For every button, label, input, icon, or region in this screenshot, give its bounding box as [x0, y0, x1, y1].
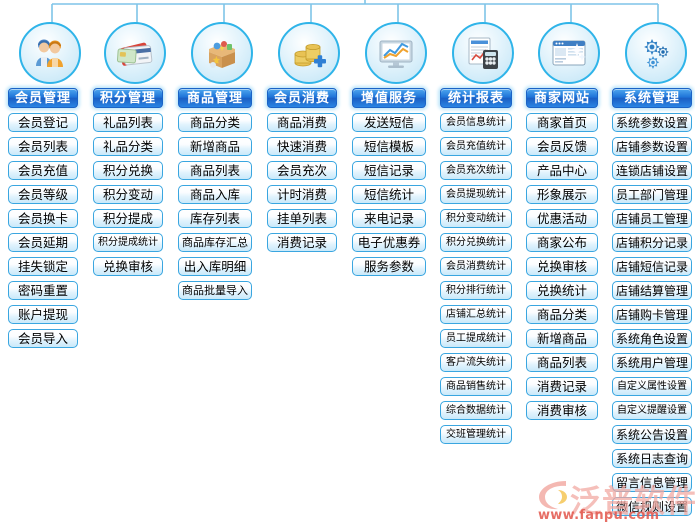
menu-item[interactable]: 系统参数设置: [612, 113, 692, 132]
credit-cards-icon: [104, 22, 166, 84]
menu-item[interactable]: 产品中心: [526, 161, 598, 180]
menu-item[interactable]: 积分提成: [93, 209, 163, 228]
module-icon-product-management[interactable]: [191, 22, 257, 88]
module-icon-statistics-reports[interactable]: [452, 22, 518, 88]
menu-item[interactable]: 商品列表: [526, 353, 598, 372]
module-icon-points-management[interactable]: [104, 22, 170, 88]
menu-item[interactable]: 店铺汇总统计: [440, 305, 512, 324]
menu-item[interactable]: 商家首页: [526, 113, 598, 132]
column-header-member-consumption[interactable]: 会员消费: [267, 88, 337, 108]
column-system-management: 系统管理系统参数设置店铺参数设置连锁店铺设置员工部门管理店铺员工管理店铺积分记录…: [612, 88, 692, 516]
module-icon-member-consumption[interactable]: [278, 22, 344, 88]
column-member-consumption: 会员消费商品消费快速消费会员充次计时消费挂单列表消费记录: [267, 88, 337, 252]
menu-item[interactable]: 店铺购卡管理: [612, 305, 692, 324]
column-header-value-added-service[interactable]: 增值服务: [352, 88, 426, 108]
column-header-statistics-reports[interactable]: 统计报表: [440, 88, 512, 108]
menu-item[interactable]: 消费记录: [526, 377, 598, 396]
menu-item[interactable]: 会员延期: [8, 233, 78, 252]
menu-item[interactable]: 短信记录: [352, 161, 426, 180]
menu-item[interactable]: 综合数据统计: [440, 401, 512, 420]
menu-item[interactable]: 系统角色设置: [612, 329, 692, 348]
menu-item[interactable]: 兑换审核: [526, 257, 598, 276]
module-icon-member-management[interactable]: [19, 22, 85, 88]
menu-item[interactable]: 系统公告设置: [612, 425, 692, 444]
column-merchant-website: 商家网站商家首页会员反馈产品中心形象展示优惠活动商家公布兑换审核兑换统计商品分类…: [526, 88, 598, 420]
menu-item[interactable]: 商品库存汇总: [178, 233, 252, 252]
menu-item[interactable]: 交班管理统计: [440, 425, 512, 444]
column-product-management: 商品管理商品分类新增商品商品列表商品入库库存列表商品库存汇总出入库明细商品批量导…: [178, 88, 252, 300]
menu-item[interactable]: 店铺参数设置: [612, 137, 692, 156]
menu-item[interactable]: 商品批量导入: [178, 281, 252, 300]
menu-item[interactable]: 兑换审核: [93, 257, 163, 276]
menu-item[interactable]: 积分变动: [93, 185, 163, 204]
column-points-management: 积分管理礼品列表礼品分类积分兑换积分变动积分提成积分提成统计兑换审核: [93, 88, 163, 276]
menu-item[interactable]: 挂单列表: [267, 209, 337, 228]
menu-item[interactable]: 商品销售统计: [440, 377, 512, 396]
menu-item[interactable]: 短信统计: [352, 185, 426, 204]
menu-item[interactable]: 系统日志查询: [612, 449, 692, 468]
column-header-system-management[interactable]: 系统管理: [612, 88, 692, 108]
menu-item[interactable]: 商品列表: [178, 161, 252, 180]
menu-item[interactable]: 新增商品: [526, 329, 598, 348]
menu-item[interactable]: 积分兑换统计: [440, 233, 512, 252]
menu-item[interactable]: 员工部门管理: [612, 185, 692, 204]
menu-item[interactable]: 微信规则设置: [612, 497, 692, 516]
gears-icon: [625, 22, 687, 84]
menu-item[interactable]: 会员消费统计: [440, 257, 512, 276]
column-member-management: 会员管理会员登记会员列表会员充值会员等级会员换卡会员延期挂失锁定密码重置账户提现…: [8, 88, 78, 348]
menu-item[interactable]: 店铺短信记录: [612, 257, 692, 276]
module-icon-value-added-service[interactable]: [365, 22, 431, 88]
menu-item[interactable]: 库存列表: [178, 209, 252, 228]
column-value-added-service: 增值服务发送短信短信模板短信记录短信统计来电记录电子优惠券服务参数: [352, 88, 426, 276]
menu-item[interactable]: 店铺员工管理: [612, 209, 692, 228]
menu-item[interactable]: 优惠活动: [526, 209, 598, 228]
menu-item[interactable]: 会员登记: [8, 113, 78, 132]
menu-item[interactable]: 礼品列表: [93, 113, 163, 132]
menu-item[interactable]: 兑换统计: [526, 281, 598, 300]
menu-item[interactable]: 会员反馈: [526, 137, 598, 156]
menu-item[interactable]: 会员导入: [8, 329, 78, 348]
menu-item[interactable]: 系统用户管理: [612, 353, 692, 372]
menu-item[interactable]: 商品入库: [178, 185, 252, 204]
menu-item[interactable]: 短信模板: [352, 137, 426, 156]
column-header-member-management[interactable]: 会员管理: [8, 88, 78, 108]
menu-item[interactable]: 会员等级: [8, 185, 78, 204]
menu-item[interactable]: 出入库明细: [178, 257, 252, 276]
menu-item[interactable]: 商家公布: [526, 233, 598, 252]
functional-structure-diagram: 会员管理会员登记会员列表会员充值会员等级会员换卡会员延期挂失锁定密码重置账户提现…: [0, 0, 695, 531]
module-icon-row: [0, 22, 695, 86]
menu-item[interactable]: 服务参数: [352, 257, 426, 276]
menu-item[interactable]: 积分排行统计: [440, 281, 512, 300]
open-box-icon: [191, 22, 253, 84]
menu-item[interactable]: 留言信息管理: [612, 473, 692, 492]
menu-item[interactable]: 消费记录: [267, 233, 337, 252]
menu-item[interactable]: 账户提现: [8, 305, 78, 324]
menu-item[interactable]: 商品分类: [178, 113, 252, 132]
column-statistics-reports: 统计报表会员信息统计会员充值统计会员充次统计会员提现统计积分变动统计积分兑换统计…: [440, 88, 512, 444]
menu-item[interactable]: 发送短信: [352, 113, 426, 132]
menu-item[interactable]: 会员换卡: [8, 209, 78, 228]
column-header-points-management[interactable]: 积分管理: [93, 88, 163, 108]
menu-item[interactable]: 挂失锁定: [8, 257, 78, 276]
menu-item[interactable]: 消费审核: [526, 401, 598, 420]
menu-item[interactable]: 礼品分类: [93, 137, 163, 156]
menu-item[interactable]: 商品分类: [526, 305, 598, 324]
menu-item[interactable]: 自定义提醒设置: [612, 401, 692, 420]
menu-item[interactable]: 来电记录: [352, 209, 426, 228]
coins-plus-icon: [278, 22, 340, 84]
column-header-merchant-website[interactable]: 商家网站: [526, 88, 598, 108]
browser-sparkle-icon: [538, 22, 600, 84]
module-icon-system-management[interactable]: [625, 22, 691, 88]
menu-item[interactable]: 店铺积分记录: [612, 233, 692, 252]
monitor-chart-icon: [365, 22, 427, 84]
menu-item[interactable]: 快速消费: [267, 137, 337, 156]
menu-item[interactable]: 会员提现统计: [440, 185, 512, 204]
menu-item[interactable]: 客户流失统计: [440, 353, 512, 372]
menu-item[interactable]: 会员充值统计: [440, 137, 512, 156]
menu-item[interactable]: 积分兑换: [93, 161, 163, 180]
menu-item[interactable]: 积分提成统计: [93, 233, 163, 252]
report-calculator-icon: [452, 22, 514, 84]
menu-item[interactable]: 自定义属性设置: [612, 377, 692, 396]
menu-item[interactable]: 会员充次统计: [440, 161, 512, 180]
menu-item[interactable]: 会员充值: [8, 161, 78, 180]
menu-item[interactable]: 新增商品: [178, 137, 252, 156]
menu-item[interactable]: 连锁店铺设置: [612, 161, 692, 180]
menu-item[interactable]: 员工提成统计: [440, 329, 512, 348]
menu-item[interactable]: 店铺结算管理: [612, 281, 692, 300]
module-icon-merchant-website[interactable]: [538, 22, 604, 88]
menu-item[interactable]: 商品消费: [267, 113, 337, 132]
menu-item[interactable]: 形象展示: [526, 185, 598, 204]
column-header-product-management[interactable]: 商品管理: [178, 88, 252, 108]
menu-item[interactable]: 密码重置: [8, 281, 78, 300]
menu-item[interactable]: 计时消费: [267, 185, 337, 204]
watermark-logo-icon: [536, 478, 576, 512]
menu-item[interactable]: 会员充次: [267, 161, 337, 180]
menu-item[interactable]: 电子优惠券: [352, 233, 426, 252]
two-workers-icon: [19, 22, 81, 84]
menu-item[interactable]: 积分变动统计: [440, 209, 512, 228]
menu-item[interactable]: 会员列表: [8, 137, 78, 156]
menu-item[interactable]: 会员信息统计: [440, 113, 512, 132]
